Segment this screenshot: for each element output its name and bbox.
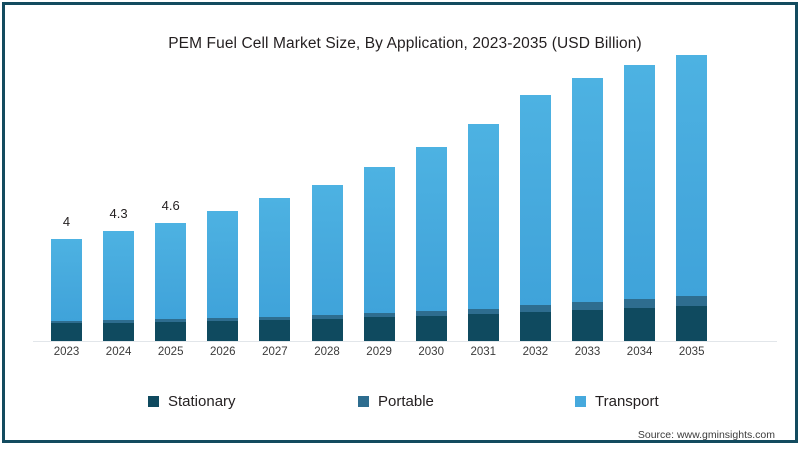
bar-segment-transport-2024[interactable] (103, 231, 134, 320)
bar-group-2030[interactable] (416, 75, 447, 341)
bar-segment-transport-2033[interactable] (572, 78, 603, 303)
bar-segment-portable-2034[interactable] (624, 299, 655, 307)
chart-canvas: PEM Fuel Cell Market Size, By Applicatio… (0, 0, 800, 450)
legend-item-stationary[interactable]: Stationary (148, 394, 236, 409)
bar-segment-transport-2034[interactable] (624, 65, 655, 300)
bar-segment-transport-2035[interactable] (676, 55, 707, 297)
bar-segment-stationary-2031[interactable] (468, 314, 499, 341)
legend-label-portable: Portable (378, 394, 434, 409)
bar-value-label-2025: 4.6 (141, 198, 201, 213)
stacked-bar[interactable] (364, 167, 395, 341)
x-tick-label-2029: 2029 (349, 346, 409, 358)
stacked-bar[interactable] (207, 211, 238, 341)
chart-border: PEM Fuel Cell Market Size, By Applicatio… (2, 2, 798, 443)
bar-group-2026[interactable] (207, 75, 238, 341)
bar-segment-transport-2029[interactable] (364, 167, 395, 313)
x-tick-label-2034: 2034 (610, 346, 670, 358)
x-tick-label-2035: 2035 (662, 346, 722, 358)
bar-segment-stationary-2033[interactable] (572, 310, 603, 341)
bar-segment-transport-2031[interactable] (468, 124, 499, 309)
bar-group-2023[interactable]: 4 (51, 75, 82, 341)
stacked-bar[interactable] (155, 223, 186, 341)
bar-segment-stationary-2023[interactable] (51, 323, 82, 341)
bar-value-label-2024: 4.3 (89, 206, 149, 221)
stacked-bar[interactable] (520, 95, 551, 341)
source-note: Source: www.gminsights.com (638, 429, 775, 441)
bar-segment-stationary-2028[interactable] (312, 319, 343, 341)
x-tick-label-2026: 2026 (193, 346, 253, 358)
bar-segment-stationary-2029[interactable] (364, 317, 395, 341)
bar-segment-transport-2027[interactable] (259, 198, 290, 317)
legend-label-transport: Transport (595, 394, 659, 409)
bar-segment-transport-2032[interactable] (520, 95, 551, 304)
bar-group-2035[interactable] (676, 75, 707, 341)
stacked-bar[interactable] (676, 55, 707, 341)
bar-group-2025[interactable]: 4.6 (155, 75, 186, 341)
bar-segment-stationary-2024[interactable] (103, 323, 134, 341)
bar-segment-portable-2035[interactable] (676, 296, 707, 305)
bar-segment-stationary-2025[interactable] (155, 322, 186, 341)
bar-segment-transport-2025[interactable] (155, 223, 186, 319)
stacked-bar[interactable] (103, 231, 134, 341)
bar-group-2034[interactable] (624, 75, 655, 341)
bar-segment-stationary-2032[interactable] (520, 312, 551, 341)
legend-item-portable[interactable]: Portable (358, 394, 434, 409)
stacked-bar[interactable] (312, 185, 343, 341)
bar-segment-portable-2033[interactable] (572, 302, 603, 310)
legend-item-transport[interactable]: Transport (575, 394, 659, 409)
stacked-bar[interactable] (468, 124, 499, 341)
legend-label-stationary: Stationary (168, 394, 236, 409)
bar-value-label-2023: 4 (37, 214, 97, 229)
bar-segment-stationary-2030[interactable] (416, 316, 447, 341)
bar-group-2029[interactable] (364, 75, 395, 341)
stacked-bar[interactable] (416, 147, 447, 341)
bar-segment-stationary-2035[interactable] (676, 306, 707, 341)
bar-segment-transport-2026[interactable] (207, 211, 238, 319)
bar-group-2027[interactable] (259, 75, 290, 341)
x-tick-label-2031: 2031 (453, 346, 513, 358)
stacked-bar[interactable] (624, 65, 655, 341)
bar-series-container: 44.34.6 (51, 75, 751, 341)
x-tick-label-2023: 2023 (37, 346, 97, 358)
bar-group-2031[interactable] (468, 75, 499, 341)
legend-swatch-transport-icon (575, 396, 586, 407)
bar-segment-transport-2030[interactable] (416, 147, 447, 311)
bar-group-2028[interactable] (312, 75, 343, 341)
legend-swatch-portable-icon (358, 396, 369, 407)
legend-swatch-stationary-icon (148, 396, 159, 407)
x-tick-label-2024: 2024 (89, 346, 149, 358)
x-axis-line (33, 341, 777, 342)
bar-segment-transport-2023[interactable] (51, 239, 82, 321)
bar-segment-stationary-2026[interactable] (207, 321, 238, 341)
bar-segment-stationary-2034[interactable] (624, 308, 655, 341)
x-tick-label-2025: 2025 (141, 346, 201, 358)
bar-group-2024[interactable]: 4.3 (103, 75, 134, 341)
chart-title: PEM Fuel Cell Market Size, By Applicatio… (5, 35, 800, 53)
bar-segment-stationary-2027[interactable] (259, 320, 290, 341)
x-tick-label-2032: 2032 (505, 346, 565, 358)
x-tick-label-2027: 2027 (245, 346, 305, 358)
bar-segment-transport-2028[interactable] (312, 185, 343, 315)
x-tick-label-2030: 2030 (401, 346, 461, 358)
stacked-bar[interactable] (259, 198, 290, 341)
bar-segment-portable-2032[interactable] (520, 305, 551, 312)
bar-group-2033[interactable] (572, 75, 603, 341)
x-tick-label-2033: 2033 (558, 346, 618, 358)
bar-group-2032[interactable] (520, 75, 551, 341)
x-axis-tick-labels: 2023202420252026202720282029203020312032… (51, 346, 751, 364)
stacked-bar[interactable] (51, 239, 82, 341)
x-tick-label-2028: 2028 (297, 346, 357, 358)
chart-legend: StationaryPortableTransport (5, 394, 800, 416)
plot-area: 44.34.6 (5, 75, 800, 342)
stacked-bar[interactable] (572, 78, 603, 341)
